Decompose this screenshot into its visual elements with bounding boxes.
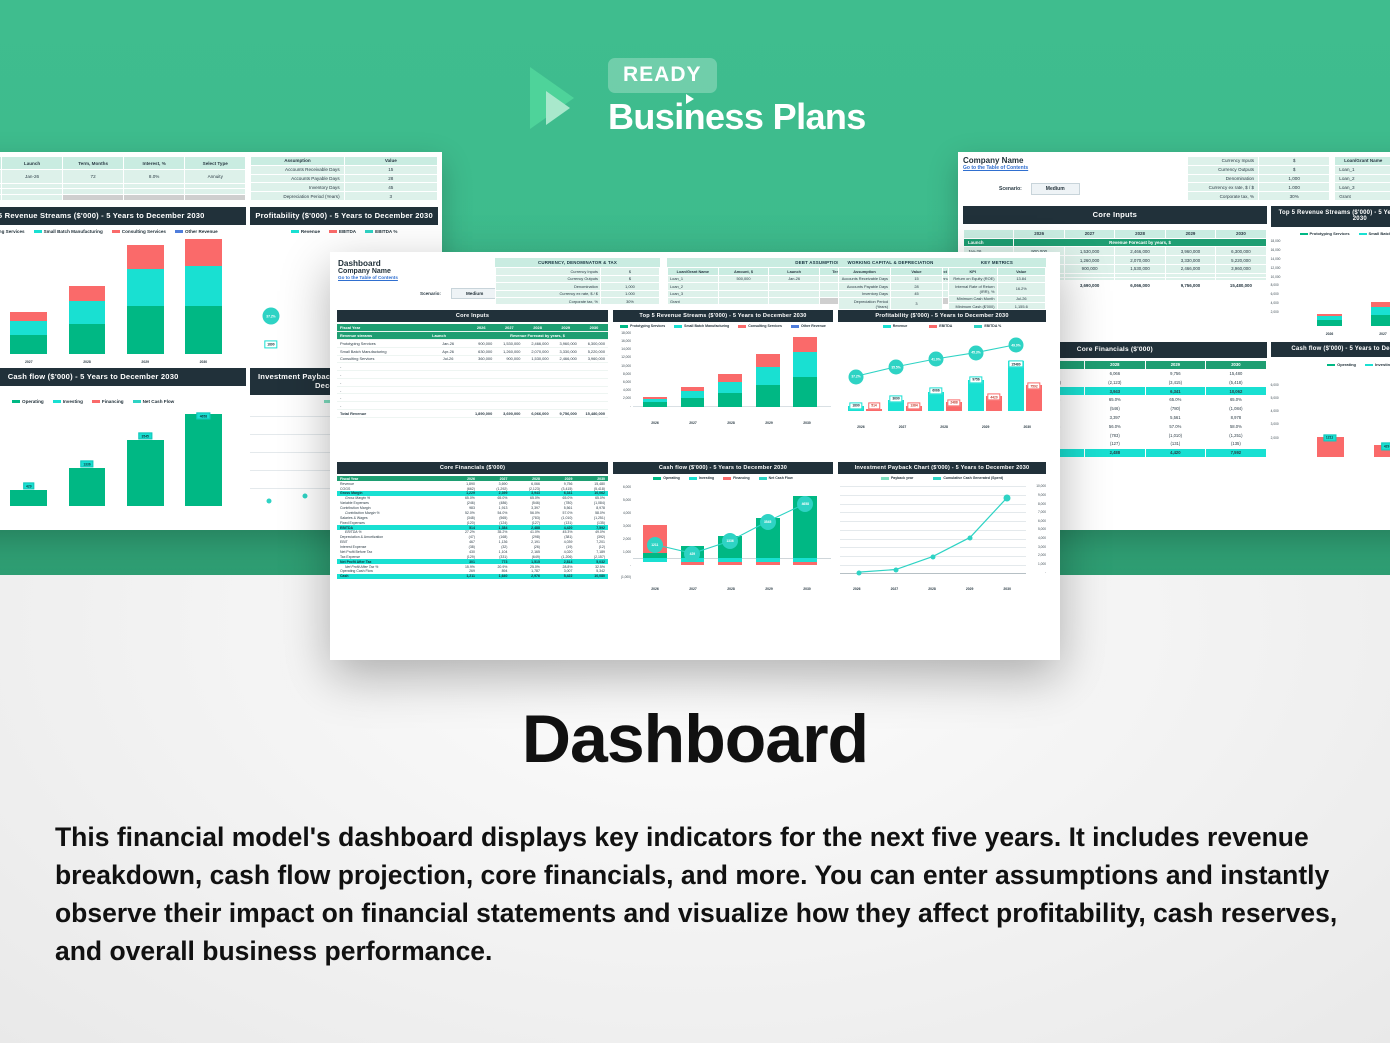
ip-ytick-9000: 9,000 — [1028, 493, 1046, 497]
total-revenue-1: 3,690,000 — [495, 409, 523, 417]
ci-year-0: 2026 — [467, 324, 495, 331]
ipx-2026: 2026 — [853, 587, 861, 591]
ebitda-pill-2029: 4420 — [987, 394, 1000, 401]
rev-pill-2028: 6066 — [929, 387, 942, 394]
legend-financing: Financing — [92, 399, 124, 404]
bg-cm-2: 3,397 — [1085, 413, 1146, 422]
bg-rev-plot: 18,000 16,000 14,000 12,000 10,000 8,000… — [1271, 238, 1390, 326]
cf-row-19-v2: 2,976 — [510, 574, 543, 579]
ncf-2029: 3545 — [139, 432, 152, 439]
bg-gmp-3: 65.0% — [1145, 396, 1206, 405]
bg-r0-v1: 1,530,000 — [1064, 247, 1114, 256]
bg-r1-v3: 3,330,000 — [1165, 256, 1215, 265]
scenario-selector[interactable]: Scenario: Medium — [420, 288, 498, 299]
exrate-value[interactable]: 1.000 — [600, 290, 659, 297]
stream-6-name: - — [337, 386, 429, 394]
legend-item-revenue: Revenue — [883, 324, 908, 328]
loan1-type: Annuity — [185, 170, 246, 183]
stream-3-name: - — [337, 363, 429, 371]
bg-sw-4: (1,251) — [1206, 431, 1267, 440]
pf-x-2028: 2028 — [940, 425, 948, 429]
stream-2-v0[interactable]: 360,000 — [467, 355, 495, 363]
ncf-2028: 1336 — [80, 460, 93, 467]
corporate-tax-value[interactable]: 30% — [600, 297, 659, 304]
km-col-value: Value — [997, 268, 1046, 275]
roe-label: Return on Equity (ROE) — [949, 275, 998, 282]
bg-cur-0-label: Currency Inputs — [1187, 157, 1258, 166]
min-cash-value: 1,155.6 — [997, 302, 1046, 309]
page-title: Dashboard — [338, 259, 398, 268]
ipx-2030: 2030 — [1003, 587, 1011, 591]
bg-forecast-hd: Revenue Forecast by years, $ — [1014, 238, 1266, 247]
rs-x-2027: 2027 — [689, 421, 697, 425]
stream-7-name: - — [337, 394, 429, 402]
bg-x-2026: 2026 — [1326, 332, 1334, 336]
stream-1-name: Small Batch Manufacturing — [337, 347, 429, 355]
ar-days-value[interactable]: 15 — [891, 275, 943, 282]
total-revenue-0: 1,890,000 — [467, 409, 495, 417]
rev-label-2026: 1890 — [264, 341, 277, 348]
denomination-value[interactable]: 1,000 — [600, 283, 659, 290]
legend-smallbatch: Small Batch Manufacturing — [34, 229, 103, 234]
bg-r2-v1: 900,000 — [1064, 265, 1114, 274]
col-launch: Launch — [2, 157, 63, 170]
rs-ytick-14000: 14,000 — [613, 347, 631, 351]
revenue-streams-title: Top 5 Revenue Streams ($'000) - 5 Years … — [613, 310, 833, 322]
cfx-2026: 2026 — [651, 587, 659, 591]
wc-row-1-label: Accounts Payable Days — [251, 174, 344, 183]
bg-ve-4: (1,084) — [1206, 404, 1267, 413]
ncf-bubble-2027: 429 — [684, 546, 700, 562]
grant-amount[interactable] — [718, 297, 769, 304]
stream-5-name: - — [337, 378, 429, 386]
ci-year-1: 2027 — [495, 324, 523, 331]
ebitda-pct-bubble-2028: 41.0% — [929, 352, 944, 367]
ip-ytick-zero: - — [1028, 570, 1046, 574]
stream-2-name: Consulting Services — [337, 355, 429, 363]
ebitda-pct-2026: 37.2% — [262, 308, 279, 325]
cf-ytick-1000: 1,000 — [613, 550, 631, 554]
bg-r0-v2: 2,466,000 — [1115, 247, 1165, 256]
pf-x-2027: 2027 — [899, 425, 907, 429]
debt-col-amount: Amount, $ — [718, 268, 769, 275]
ncf-bubble-2029: 3545 — [760, 514, 776, 530]
cfx-2028: 2028 — [727, 587, 735, 591]
stream-1-v2[interactable]: 2,070,000 — [523, 347, 551, 355]
bg-loan-name-hd: Loan/Grant Name — [1335, 157, 1390, 166]
ci-fiscal-year: Fiscal Year — [337, 324, 429, 331]
table-row: Internal Rate of Return (IRR), %16.2% — [949, 283, 1046, 295]
stream-0-v3[interactable]: 3,960,000 — [552, 339, 580, 347]
bg-gmp-2: 65.0% — [1085, 396, 1146, 405]
ncf-2030: 4658 — [197, 412, 210, 419]
bg-cur-2-label: Denomination — [1187, 174, 1258, 183]
rev-pill-2029: 9756 — [969, 376, 982, 383]
bg-loan3: Loan_3 — [1335, 183, 1390, 192]
profitability-chart: Profitability ($'000) - 5 Years to Decem… — [838, 310, 1046, 429]
key-metrics-title: KEY METRICS — [948, 258, 1046, 267]
ip-ytick-6000: 6,000 — [1028, 519, 1046, 523]
rs-x-2026: 2026 — [651, 421, 659, 425]
total-revenue-2: 6,066,000 — [523, 409, 551, 417]
bg-loan2: Loan_2 — [1335, 174, 1390, 183]
revenue-streams-band: Top 5 Revenue Streams ($'000) - 5 Years … — [0, 207, 246, 225]
scenario-label: Scenario: — [420, 291, 441, 296]
loan-3-amount[interactable] — [718, 290, 769, 297]
min-cash-month-label: Minimum Cash Month — [949, 295, 998, 302]
stream-2-v4[interactable]: 3,960,000 — [580, 355, 608, 363]
working-capital-block: WORKING CAPITAL & DEPRECIATION Assumptio… — [838, 258, 943, 310]
ci-year-2: 2028 — [523, 324, 551, 331]
ci-forecast-label: Revenue Forecast by years, $ — [467, 332, 608, 340]
bg-cogs-3: (3,415) — [1145, 378, 1206, 387]
legend-item-consulting: Consulting Services — [738, 324, 782, 328]
company-name: Company Name — [338, 268, 398, 275]
grant-name: Grant — [668, 297, 719, 304]
loan-2-amount[interactable] — [718, 283, 769, 290]
table-row: Return on Equity (ROE)13.84 — [949, 275, 1046, 282]
stream-2-v3[interactable]: 2,466,000 — [552, 355, 580, 363]
table-of-contents-link[interactable]: Go to the Table of Contents — [338, 275, 398, 280]
bar-2030 — [793, 337, 817, 407]
bg-ncf-2026: 1211 — [1323, 434, 1336, 441]
bg-r0-v3: 3,960,000 — [1165, 247, 1215, 256]
ebitda-pill-2028: 2488 — [947, 399, 960, 406]
core-financials-band: Core Financials ($'000) — [337, 462, 608, 474]
roe-value: 13.84 — [997, 275, 1046, 282]
total-revenue-3: 9,756,000 — [552, 409, 580, 417]
cf-row-19-label: Cash — [337, 574, 445, 579]
x-2027: 2027 — [25, 360, 33, 364]
ncf-bubble-2028: 1336 — [722, 533, 738, 549]
profitability-title: Profitability ($'000) - 5 Years to Decem… — [838, 310, 1046, 322]
legend-item-investing: Investing — [689, 476, 714, 480]
inventory-days-value[interactable]: 45 — [891, 290, 943, 297]
wc-row-2-label: Inventory Days — [251, 183, 344, 192]
stream-4-name: - — [337, 371, 429, 379]
depreciation-label: Depreciation Period (Years) — [839, 297, 891, 309]
cashflow-plot-back: 1211 429 1336 3545 4658 — [0, 406, 246, 506]
bg-r1-v1: 1,260,000 — [1064, 256, 1114, 265]
cf-ytick-zero: - — [613, 563, 631, 567]
cf-row-19-v1: 1,640 — [478, 574, 511, 579]
page-heading: Dashboard — [0, 700, 1390, 778]
loan-1-amount[interactable]: 500,000 — [718, 275, 769, 282]
revenue-streams-chart: Top 5 Revenue Streams ($'000) - 5 Years … — [613, 310, 833, 425]
scenario-dropdown[interactable]: Medium — [451, 288, 498, 299]
bar-2026 — [643, 397, 667, 407]
rs-ytick-6000: 6,000 — [613, 380, 631, 384]
cashflow-band: Cash flow ($'000) - 5 Years to December … — [0, 368, 246, 386]
rs-ytick-16000: 16,000 — [613, 339, 631, 343]
bg-scenario-value[interactable]: Medium — [1031, 183, 1080, 195]
table-row: Contribution Margin %52.0%54.0%56.0%57.0… — [337, 511, 608, 516]
stream-2-launch[interactable]: Jul-26 — [429, 355, 467, 363]
pf-x-2030: 2030 — [1023, 425, 1031, 429]
ap-days-value[interactable]: 28 — [891, 283, 943, 290]
min-cash-label: Minimum Cash ($'000) — [949, 302, 998, 309]
loan1-term: 72 — [63, 170, 124, 183]
page-description: This financial model's dashboard display… — [55, 818, 1340, 970]
table-row: - — [337, 363, 608, 371]
rs-ytick-zero: - — [613, 404, 631, 408]
profitability-legend: Revenue EBITDA EBITDA % — [838, 322, 1046, 330]
bg-cf-y4: 2030 — [1206, 360, 1267, 369]
table-row: - — [337, 386, 608, 394]
bg-launch-hd: Launch — [964, 238, 1014, 247]
pf-x-2029: 2029 — [982, 425, 990, 429]
bg-cur-4-value: 30% — [1259, 192, 1330, 201]
cf-ytick-5000: 5,000 — [613, 498, 631, 502]
bg-rev-2: 6,066 — [1085, 369, 1146, 378]
bg-r1-v2: 2,070,000 — [1115, 256, 1165, 265]
bg-cmp-4: 58.0% — [1206, 422, 1267, 431]
rs-x-2028: 2028 — [727, 421, 735, 425]
bg-legend-proto: Prototyping Services — [1300, 231, 1350, 236]
ci-streams-label: Revenue streams — [337, 332, 429, 340]
ready-badge: READY — [608, 58, 717, 93]
stream-1-v4[interactable]: 5,220,000 — [580, 347, 608, 355]
dashboard-header: Dashboard Company Name Go to the Table o… — [338, 259, 398, 280]
bg-tot-1: 3,690,000 — [1064, 281, 1114, 289]
rs-ytick-8000: 8,000 — [613, 372, 631, 376]
rev-pill-2027: 3690 — [889, 395, 902, 402]
corporate-tax-label: Corporate tax, % — [496, 297, 601, 304]
bg-cm-3: 5,561 — [1145, 413, 1206, 422]
wc-row-0-value: 15 — [344, 165, 437, 174]
table-row: Small Batch Manufacturing Apr-26 630,000… — [337, 347, 608, 355]
bg-legend-inv: Investing — [1365, 362, 1390, 367]
i-dot-triangle-icon — [686, 94, 694, 104]
wc-row-0-label: Accounts Receivable Days — [251, 165, 344, 174]
core-inputs-band: Core Inputs — [337, 310, 608, 322]
bg-y2: 2028 — [1115, 229, 1165, 238]
table-row: Inventory Days45 — [839, 290, 943, 297]
bg-cur-2-value: 1,000 — [1259, 174, 1330, 183]
col-interest: Interest, % — [124, 157, 185, 170]
bg-r2-v3: 2,466,000 — [1165, 265, 1215, 274]
dashboard-screenshot[interactable]: Dashboard Company Name Go to the Table o… — [330, 252, 1060, 660]
ncf-bubble-2030: 4658 — [797, 496, 813, 512]
wc-row-1-value: 28 — [344, 174, 437, 183]
legend-item-other: Other Revenue — [791, 324, 826, 328]
bg-ve-2: (546) — [1085, 404, 1146, 413]
table-row: - — [337, 371, 608, 379]
bg-cogs-2: (2,123) — [1085, 378, 1146, 387]
bg-cashflow-band: Cash flow ($'000) - 5 Years to December … — [1271, 342, 1390, 357]
stream-1-v1[interactable]: 1,260,000 — [495, 347, 523, 355]
ipx-2029: 2029 — [966, 587, 974, 591]
cf-ytick-2000: 2,000 — [613, 537, 631, 541]
legend-netcash: Net Cash Flow — [133, 399, 175, 404]
legend-prototyping: Prototyping Services — [0, 229, 25, 234]
bg-rev-3: 9,756 — [1145, 369, 1206, 378]
x-2029: 2029 — [141, 360, 149, 364]
bg-gmp-4: 65.0% — [1206, 396, 1267, 405]
bg-loan1: Loan_1 — [1335, 165, 1390, 174]
bg-ncf-2027: 429 — [1381, 443, 1390, 450]
brand-name-text: Business Plans — [608, 96, 866, 137]
ip-ytick-4000: 4,000 — [1028, 536, 1046, 540]
bg-cur-0-value: $ — [1259, 157, 1330, 166]
table-row: Minimum Cash MonthJul-26 — [949, 295, 1046, 302]
investment-payback-title: Investment Payback Chart ($'000) - 5 Yea… — [838, 462, 1046, 474]
legend-investing: Investing — [53, 399, 83, 404]
stream-1-v0[interactable]: 630,000 — [467, 347, 495, 355]
bg-scenario-label: Scenario: — [999, 186, 1022, 192]
x-2028: 2028 — [83, 360, 91, 364]
revenue-streams-plot-back — [0, 236, 246, 354]
ip-ytick-8000: 8,000 — [1028, 502, 1046, 506]
rs-x-2029: 2029 — [765, 421, 773, 425]
bg-gm-4: 10,062 — [1206, 387, 1267, 396]
cash-flow-title: Cash flow ($'000) - 5 Years to December … — [613, 462, 833, 474]
bg-cur-3-value: 1.000 — [1259, 183, 1330, 192]
currency-inputs-value[interactable]: $ — [600, 268, 659, 275]
table-row: Net Profit After Tax %15.9%20.9%25.0%28.… — [337, 564, 608, 569]
cf-ytick-6000: 6,000 — [613, 485, 631, 489]
loan1-launch: Jan-26 — [2, 170, 63, 183]
ncf-bubble-2026: 1211 — [647, 537, 663, 553]
table-row: Prototyping Services Jan-26 900,000 1,53… — [337, 339, 608, 347]
profitability-band: Profitability ($'000) - 5 Years to Decem… — [250, 207, 438, 225]
denomination-label: Denomination — [496, 283, 601, 290]
bg-sw-2: (783) — [1085, 431, 1146, 440]
bg-cur-3-label: Currency ex rate, $ / $ — [1187, 183, 1258, 192]
bg-eb-2: 2,488 — [1085, 448, 1146, 457]
legend-item-ebitda: EBITDA — [929, 324, 952, 328]
table-row: Accounts Receivable Days15 — [839, 275, 943, 282]
cash-flow-plot: 6,000 5,000 4,000 3,000 2,000 1,000 - (1… — [613, 482, 833, 582]
bg-grant: Grant — [1335, 192, 1390, 201]
bg-r2-v4: 3,960,000 — [1216, 265, 1266, 274]
investment-payback-legend: Payback year Cumulative Cash Generated (… — [838, 474, 1046, 482]
wc-row-2-value: 45 — [344, 183, 437, 192]
stream-8-name: - — [337, 402, 429, 410]
working-capital-title: WORKING CAPITAL & DEPRECIATION — [838, 258, 943, 267]
stream-2-v1[interactable]: 900,000 — [495, 355, 523, 363]
bg-y4: 2030 — [1216, 229, 1266, 238]
rs-ytick-4000: 4,000 — [613, 388, 631, 392]
cf-ytick-4000: 4,000 — [613, 511, 631, 515]
bg-y1: 2027 — [1064, 229, 1114, 238]
loan-1-launch[interactable]: Jan-26 — [769, 275, 820, 282]
brand-logo: READY Business Plans — [524, 58, 866, 138]
ip-ytick-10000: 10,000 — [1028, 484, 1046, 488]
table-row: - — [337, 394, 608, 402]
bg-cur-1-value: $ — [1259, 165, 1330, 174]
ip-ytick-3000: 3,000 — [1028, 545, 1046, 549]
table-row: Depreciation Period (Years)3 — [839, 297, 943, 309]
legend-other: Other Revenue — [175, 229, 218, 234]
stream-1-v3[interactable]: 3,330,000 — [552, 347, 580, 355]
ebitda-pill-2027: 1384 — [907, 402, 920, 409]
stream-0-v1[interactable]: 1,530,000 — [495, 339, 523, 347]
table-row: - — [337, 378, 608, 386]
table-row: Depreciation & Amortization(47)(168)(298… — [337, 535, 608, 540]
legend-ebitda-pct: EBITDA % — [365, 229, 397, 234]
ci-year-4: 2030 — [580, 324, 608, 331]
bg-legend-sbm: Small Batch Manufacturing — [1359, 231, 1390, 236]
core-financials-section: Core Financials ($'000) Fiscal Year 2026… — [337, 462, 608, 579]
stream-2-v2[interactable]: 1,530,000 — [523, 355, 551, 363]
bg-tot-3: 9,756,000 — [1165, 281, 1215, 289]
inventory-days-label: Inventory Days — [839, 290, 891, 297]
wc-row-3-label: Depreciation Period (Years) — [251, 192, 344, 201]
ebitda-pct-bubble-2029: 45.3% — [969, 345, 984, 360]
table-row: Consulting Services Jul-26 360,000 900,0… — [337, 355, 608, 363]
loan-2-name: Loan_2 — [668, 283, 719, 290]
stream-0-v0[interactable]: 900,000 — [467, 339, 495, 347]
rev-pill-2026: 1890 — [849, 402, 862, 409]
core-inputs-section: Core Inputs Fiscal Year 2026 2027 2028 2… — [337, 310, 608, 418]
currency-inputs-label: Currency Inputs — [496, 268, 601, 275]
loan-3-name: Loan_3 — [668, 290, 719, 297]
bg-ve-3: (780) — [1145, 404, 1206, 413]
cf-ytick-neg1000: (1,000) — [613, 575, 631, 579]
legend-operating: Operating — [12, 399, 44, 404]
loan1-interest: 8.0% — [124, 170, 185, 183]
bg-r0-v4: 6,300,000 — [1216, 247, 1266, 256]
bg-eb-3: 4,420 — [1145, 448, 1206, 457]
legend-consulting: Consulting Services — [112, 229, 166, 234]
cumulative-cash-line — [840, 486, 1026, 573]
ip-ytick-1000: 1,000 — [1028, 562, 1046, 566]
bg-rev-streams-band: Top 5 Revenue Streams ($'000) - 5 Years … — [1271, 206, 1390, 227]
bg-eb-4: 7,592 — [1206, 448, 1267, 457]
stream-0-name: Prototyping Services — [337, 339, 429, 347]
stream-0-v4[interactable]: 6,300,000 — [580, 339, 608, 347]
ipx-2027: 2027 — [891, 587, 899, 591]
stream-0-v2[interactable]: 2,466,000 — [523, 339, 551, 347]
col-term: Term, Months — [63, 157, 124, 170]
stream-1-launch[interactable]: Apr-26 — [429, 347, 467, 355]
cash-flow-legend: Operating Investing Financing Net Cash F… — [613, 474, 833, 482]
col-value: Value — [344, 157, 437, 166]
bg-r2-v2: 1,530,000 — [1115, 265, 1165, 274]
rs-x-2030: 2030 — [803, 421, 811, 425]
bg-sw-3: (1,010) — [1145, 431, 1206, 440]
cf-row-19-v4: 10,080 — [575, 574, 608, 579]
ip-ytick-7000: 7,000 — [1028, 510, 1046, 514]
bar-2027 — [681, 387, 705, 407]
bg-cash-plot: 6,000 5,000 4,000 3,000 2,000 1211 429 — [1271, 369, 1390, 457]
cash-flow-chart: Cash flow ($'000) - 5 Years to December … — [613, 462, 833, 591]
stream-0-launch[interactable]: Jan-26 — [429, 339, 467, 347]
ci-launch-label: Launch — [429, 332, 467, 340]
bg-toc-link: Go to the Table of Contents — [963, 165, 1183, 171]
col-type: Select Type — [185, 157, 246, 170]
bg-cogs-4: (5,418) — [1206, 378, 1267, 387]
ap-days-label: Accounts Payable Days — [839, 283, 891, 290]
bg-core-inputs-band: Core Inputs — [963, 206, 1267, 224]
exrate-label: Currency ex rate, $ / $ — [496, 290, 601, 297]
total-revenue-4: 15,480,000 — [580, 409, 608, 417]
bg-cmp-3: 57.0% — [1145, 422, 1206, 431]
key-metrics-block: KEY METRICS KPIValue Return on Equity (R… — [948, 258, 1046, 310]
currency-outputs-value[interactable]: $ — [600, 275, 659, 282]
pf-x-2026: 2026 — [857, 425, 865, 429]
legend-item-netcash: Net Cash Flow — [759, 476, 793, 480]
ar-days-label: Accounts Receivable Days — [839, 275, 891, 282]
legend-item-operating: Operating — [653, 476, 680, 480]
depreciation-value[interactable]: 3 — [891, 297, 943, 309]
rs-ytick-18000: 18,000 — [613, 331, 631, 335]
investment-payback-plot: 10,000 9,000 8,000 7,000 6,000 5,000 4,0… — [838, 482, 1046, 582]
debt-col-name: Loan/Grant Name — [668, 268, 719, 275]
ip-ytick-5000: 5,000 — [1028, 527, 1046, 531]
cfx-2030: 2030 — [803, 587, 811, 591]
